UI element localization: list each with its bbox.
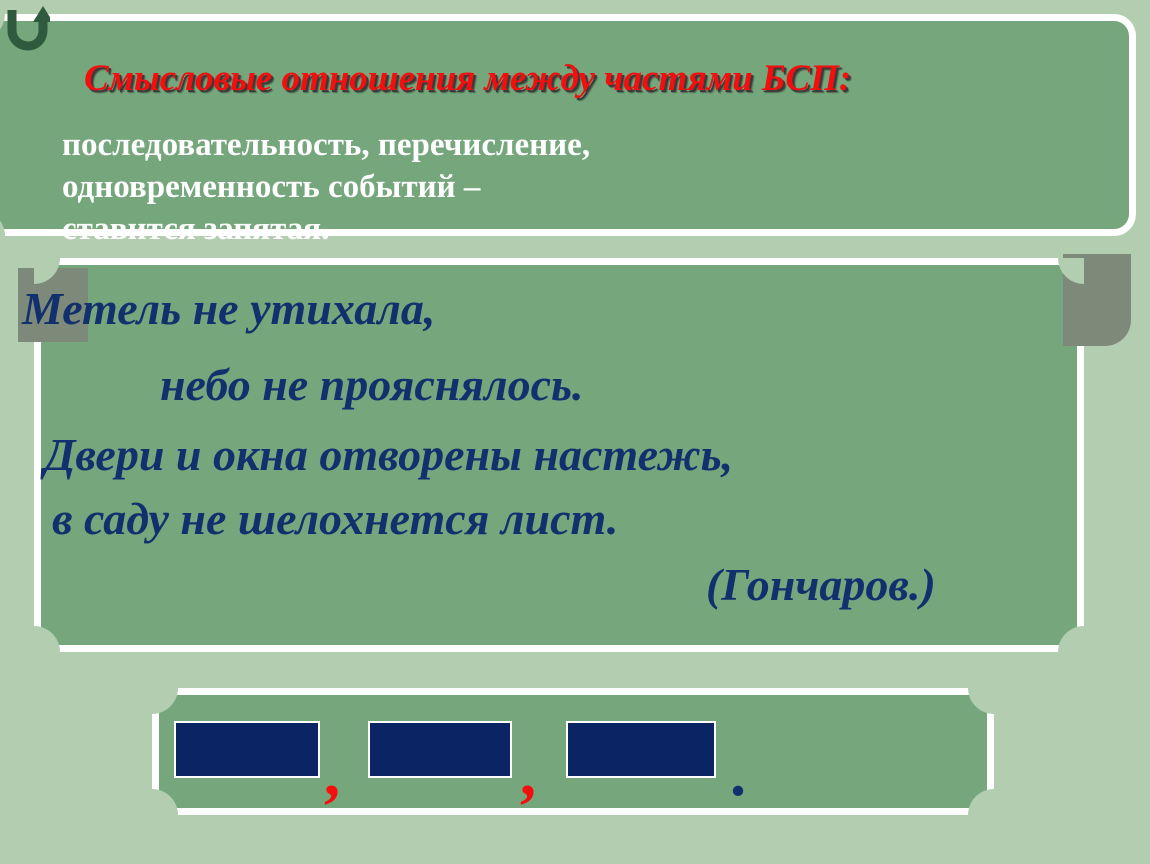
rule-body-line-3: ставится запятая. [62, 208, 1102, 250]
scheme-clause-box-3 [566, 721, 716, 778]
scheme-clause-box-1 [174, 721, 320, 778]
panel-notch-top-left [0, 14, 5, 40]
rule-body-line-1: последовательность, перечисление, [62, 124, 1102, 166]
sentence-scheme: , , . [152, 688, 994, 815]
example-notch-bottom-left [34, 626, 60, 652]
scheme-comma-2: , [520, 742, 536, 806]
example-notch-bottom-right [1058, 626, 1084, 652]
panel-notch-bottom-left [0, 210, 5, 236]
rule-title: Смысловые отношения между частями БСП: [84, 59, 1104, 99]
scheme-comma-1: , [324, 742, 340, 806]
example-line-4: в саду не шелохнется лист. [52, 496, 618, 542]
example-notch-top-right [1058, 258, 1084, 284]
example-line-3: Двери и окна отворены настежь, [44, 432, 733, 478]
example-line-1: Метель не утихала, [22, 286, 435, 332]
slide-canvas: Смысловые отношения между частями БСП: п… [0, 0, 1150, 864]
return-u-turn-arrow-icon[interactable] [6, 4, 50, 52]
example-author: (Гончаров.) [706, 562, 936, 608]
rule-body: последовательность, перечисление, одновр… [62, 124, 1102, 251]
example-line-2: небо не прояснялось. [160, 362, 584, 408]
scheme-period: . [730, 742, 746, 806]
scheme-clause-box-2 [368, 721, 512, 778]
rule-body-line-2: одновременность событий – [62, 166, 1102, 208]
